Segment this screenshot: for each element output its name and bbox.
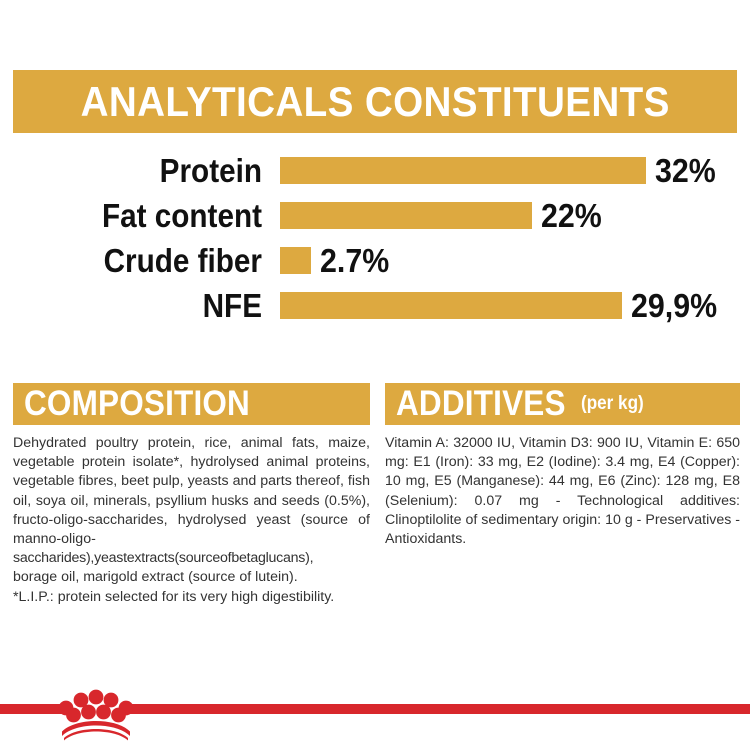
bar-label-nfe: NFE <box>28 283 262 328</box>
composition-panel-header: COMPOSITION <box>13 383 370 425</box>
bar-value-crude-fiber: 2.7% <box>320 238 389 283</box>
bar-label-crude-fiber: Crude fiber <box>28 238 262 283</box>
analytical-constituents-chart: Protein 32% Fat content 22% Crude fiber … <box>0 148 750 328</box>
bar-value-nfe: 29,9% <box>631 283 717 328</box>
composition-text-part1: Dehydrated poultry protein, rice, animal… <box>13 434 370 549</box>
bar-value-fat-content: 22% <box>541 193 602 238</box>
footer-rule-right <box>128 704 750 714</box>
bar-label-fat-content: Fat content <box>28 193 262 238</box>
page-title: ANALYTICALS CONSTITUENTS <box>80 78 669 126</box>
bar-protein <box>280 157 646 184</box>
bar-label-protein: Protein <box>28 148 262 193</box>
bar-crude-fiber <box>280 247 311 274</box>
analytical-constituents-banner: ANALYTICALS CONSTITUENTS <box>13 70 737 133</box>
additives-body: Vitamin A: 32000 IU, Vitamin D3: 900 IU,… <box>385 434 740 549</box>
chart-row: Protein 32% <box>0 148 750 193</box>
chart-row: NFE 29,9% <box>0 283 750 328</box>
composition-text-part2: saccharides),yeastextracts(sourceofbetag… <box>13 549 370 568</box>
additives-heading-suffix: (per kg) <box>581 393 644 415</box>
bar-fat-content <box>280 202 532 229</box>
additives-panel-header: ADDITIVES (per kg) <box>385 383 740 425</box>
additives-heading: ADDITIVES <box>396 384 566 424</box>
footer <box>0 688 750 750</box>
composition-footnote: *L.I.P.: protein selected for its very h… <box>13 588 370 607</box>
royal-canin-crown-icon <box>58 682 134 742</box>
additives-panel: ADDITIVES (per kg) Vitamin A: 32000 IU, … <box>385 383 740 549</box>
chart-row: Fat content 22% <box>0 193 750 238</box>
chart-row: Crude fiber 2.7% <box>0 238 750 283</box>
bar-nfe <box>280 292 622 319</box>
composition-text-part3: borage oil, marigold extract (source of … <box>13 568 370 587</box>
composition-heading: COMPOSITION <box>24 384 250 424</box>
additives-text: Vitamin A: 32000 IU, Vitamin D3: 900 IU,… <box>385 434 740 549</box>
composition-panel: COMPOSITION Dehydrated poultry protein, … <box>13 383 370 607</box>
footer-rule-left <box>0 704 66 714</box>
bar-value-protein: 32% <box>655 148 716 193</box>
composition-body: Dehydrated poultry protein, rice, animal… <box>13 434 370 607</box>
